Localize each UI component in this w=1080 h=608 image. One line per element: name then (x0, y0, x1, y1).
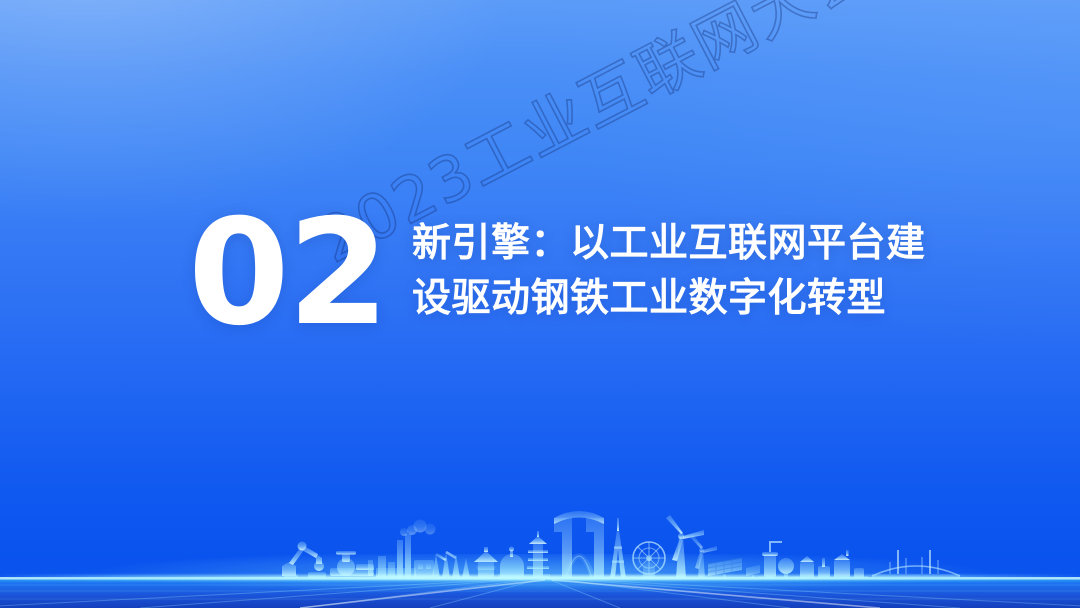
presentation-slide: 2023工业互联网大会 (0, 0, 1080, 608)
industrial-plant-icon (796, 550, 868, 579)
section-number: 02 (188, 200, 387, 346)
pagoda-icon (526, 531, 550, 578)
gas-storage-tank-icon (758, 542, 798, 579)
section-title-line-2: 设驱动钢铁工业数字化转型 (412, 271, 957, 326)
pipe-valve-icon (330, 551, 374, 576)
eiffel-tower-icon (610, 518, 626, 578)
robot-arm-icon (282, 542, 326, 579)
oil-derrick-icon (430, 552, 472, 579)
factory-smokestack-icon (376, 520, 436, 579)
ground-plane (0, 577, 1080, 608)
ferris-wheel-icon (633, 542, 665, 578)
gate-of-the-orient-arch-icon (554, 511, 604, 578)
chinese-pavilion-icon (474, 547, 498, 578)
solar-panel-icon (708, 558, 760, 579)
section-title-line-1: 新引擎：以工业互联网平台建 (412, 216, 957, 271)
skyline-scene (0, 488, 1080, 608)
skyline-silhouette-group (282, 511, 960, 579)
dome-building-icon (498, 547, 526, 580)
section-title: 新引擎：以工业互联网平台建 设驱动钢铁工业数字化转型 (412, 216, 957, 327)
suspension-bridge-icon (872, 550, 960, 577)
